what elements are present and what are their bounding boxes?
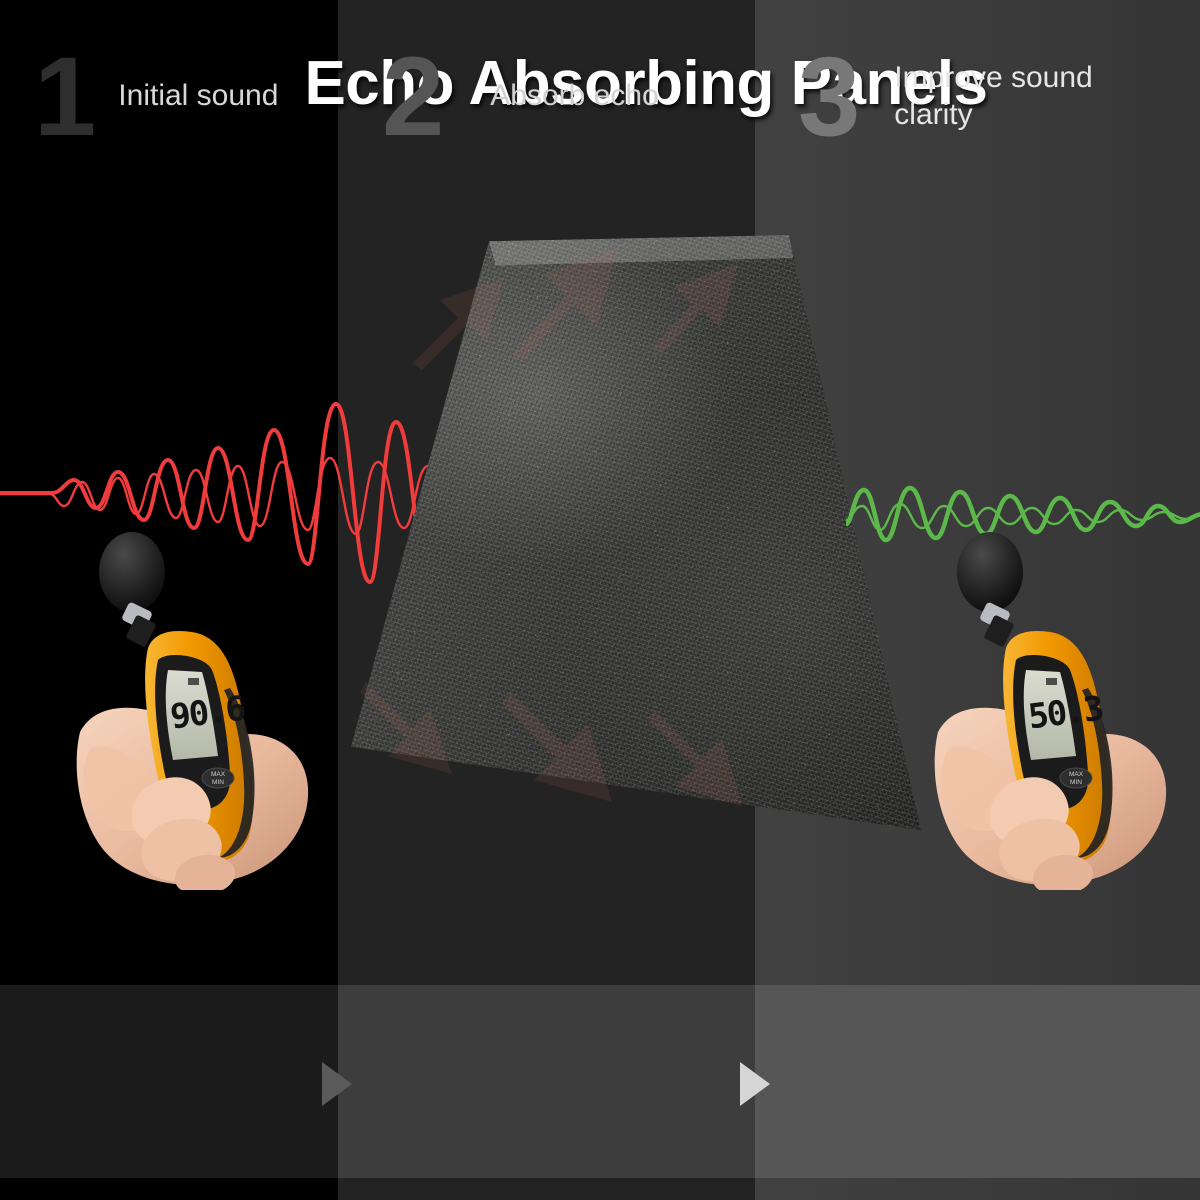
panel-surface bbox=[330, 232, 930, 852]
fiber-texture-layer bbox=[330, 232, 930, 852]
step-number-1: 1 bbox=[34, 41, 96, 153]
meter-button-maxmin: MAX MIN bbox=[202, 768, 234, 788]
step-item-2: 2 Absorb echo bbox=[382, 0, 659, 193]
svg-text:MAX: MAX bbox=[211, 771, 226, 778]
step-label-3: Improve sound clarity bbox=[894, 60, 1092, 133]
step-separator-arrow-icon bbox=[740, 1062, 770, 1106]
step-item-3: 3 Improve sound clarity bbox=[798, 0, 1093, 193]
microphone-windscreen bbox=[99, 532, 165, 612]
svg-text:MIN: MIN bbox=[212, 779, 224, 786]
caption-segment-3 bbox=[755, 985, 1200, 1178]
step-number-2: 2 bbox=[382, 41, 444, 153]
steps-caption-band bbox=[0, 985, 1200, 1178]
fiber-texture-layer bbox=[330, 232, 930, 852]
sound-level-meter-right: 50.3 HOLD MAX MIN bbox=[930, 520, 1200, 890]
acoustic-panel bbox=[330, 232, 930, 852]
fiber-texture-layer bbox=[330, 232, 930, 852]
infographic-canvas: Echo Absorbing Panels bbox=[0, 0, 1200, 1200]
sound-level-meter-left: 90.6 HOLD MAX MIN bbox=[72, 520, 362, 890]
microphone-windscreen bbox=[957, 532, 1023, 612]
meter-button-maxmin: MAX MIN bbox=[1060, 768, 1092, 788]
step-item-1: 1 Initial sound bbox=[34, 0, 278, 193]
step-number-3: 3 bbox=[798, 41, 860, 153]
fiber-texture-layer bbox=[330, 232, 930, 852]
svg-text:MIN: MIN bbox=[1070, 779, 1082, 786]
caption-segment-1 bbox=[0, 985, 338, 1178]
fiber-texture-layer bbox=[330, 232, 930, 852]
step-label-1: Initial sound bbox=[118, 78, 278, 115]
caption-segment-2 bbox=[338, 985, 755, 1178]
step-label-2: Absorb echo bbox=[490, 78, 658, 115]
svg-text:MAX: MAX bbox=[1069, 771, 1084, 778]
fiber-speckle-layer bbox=[330, 232, 930, 852]
step-separator-arrow-icon bbox=[322, 1062, 352, 1106]
